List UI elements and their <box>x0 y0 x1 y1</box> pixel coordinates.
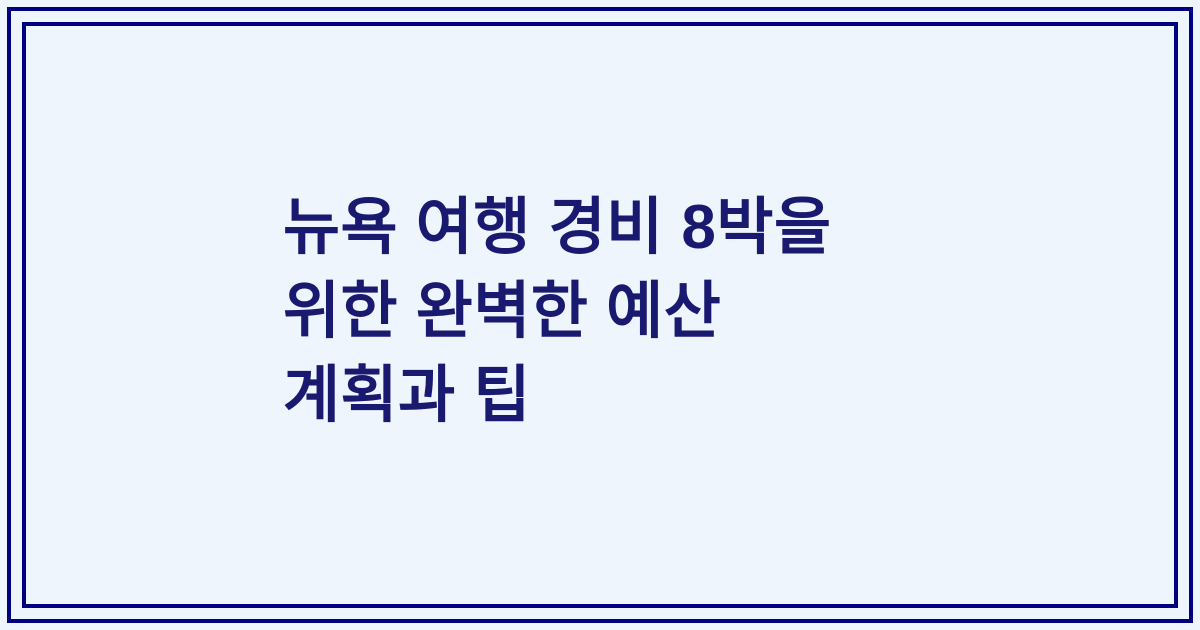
headline-line-2: 위한 완벽한 예산 <box>283 270 983 354</box>
banner-card: 뉴욕 여행 경비 8박을 위한 완벽한 예산 계획과 팁 <box>0 0 1200 630</box>
headline-line-1: 뉴욕 여행 경비 8박을 <box>283 186 983 270</box>
headline: 뉴욕 여행 경비 8박을 위한 완벽한 예산 계획과 팁 <box>283 186 983 438</box>
headline-line-3: 계획과 팁 <box>283 354 983 438</box>
